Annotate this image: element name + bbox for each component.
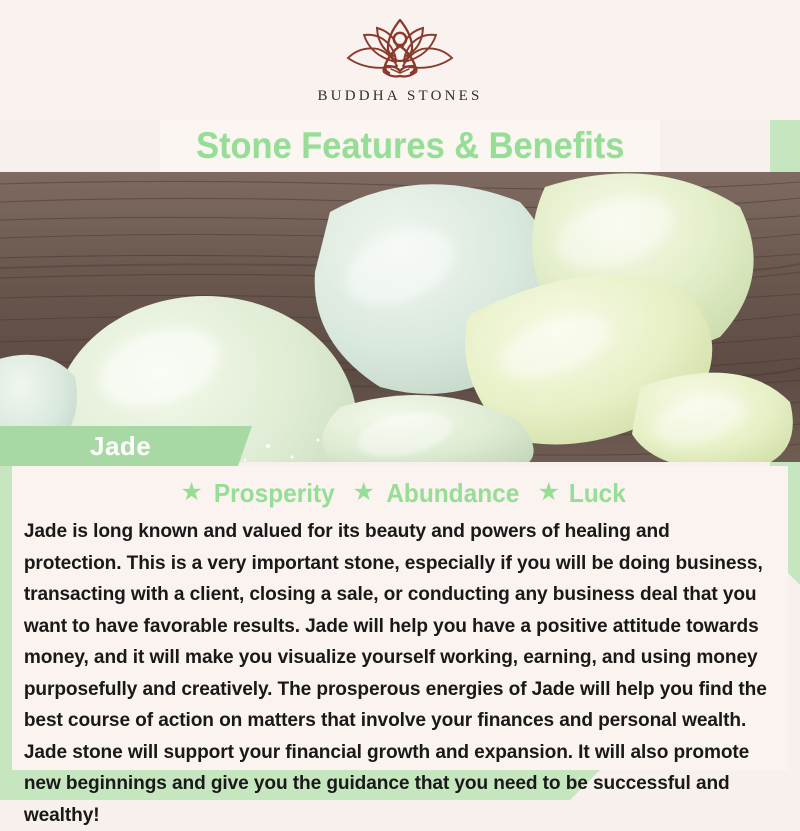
benefit-label: Abundance xyxy=(386,478,519,509)
brand-header: BUDDHA STONES xyxy=(0,0,800,120)
benefit-item: ★ Prosperity xyxy=(180,478,338,509)
stone-name-label: Jade xyxy=(90,431,151,462)
stone-name-banner: Jade xyxy=(0,426,252,466)
benefit-label: Prosperity xyxy=(214,478,335,509)
page-title: Stone Features & Benefits xyxy=(196,125,624,167)
section-title-bar: Stone Features & Benefits xyxy=(160,120,660,172)
content-panel: ★ Prosperity ★ Abundance ★ Luck Jade is … xyxy=(12,466,788,770)
stone-description: Jade is long known and valued for its be… xyxy=(14,516,772,831)
star-icon: ★ xyxy=(537,480,559,505)
stone-photo-illustration xyxy=(0,172,800,462)
benefits-list: ★ Prosperity ★ Abundance ★ Luck xyxy=(24,476,784,510)
poster-root: BUDDHA STONES Stone Features & Benefits … xyxy=(0,0,800,800)
brand-name: BUDDHA STONES xyxy=(317,88,482,105)
benefit-item: ★ Luck xyxy=(537,478,627,509)
star-icon: ★ xyxy=(352,480,374,505)
benefit-item: ★ Abundance xyxy=(352,478,523,509)
stone-photo xyxy=(0,172,800,462)
lotus-meditation-icon xyxy=(334,16,466,82)
star-icon: ★ xyxy=(180,480,202,505)
benefit-label: Luck xyxy=(569,478,626,509)
